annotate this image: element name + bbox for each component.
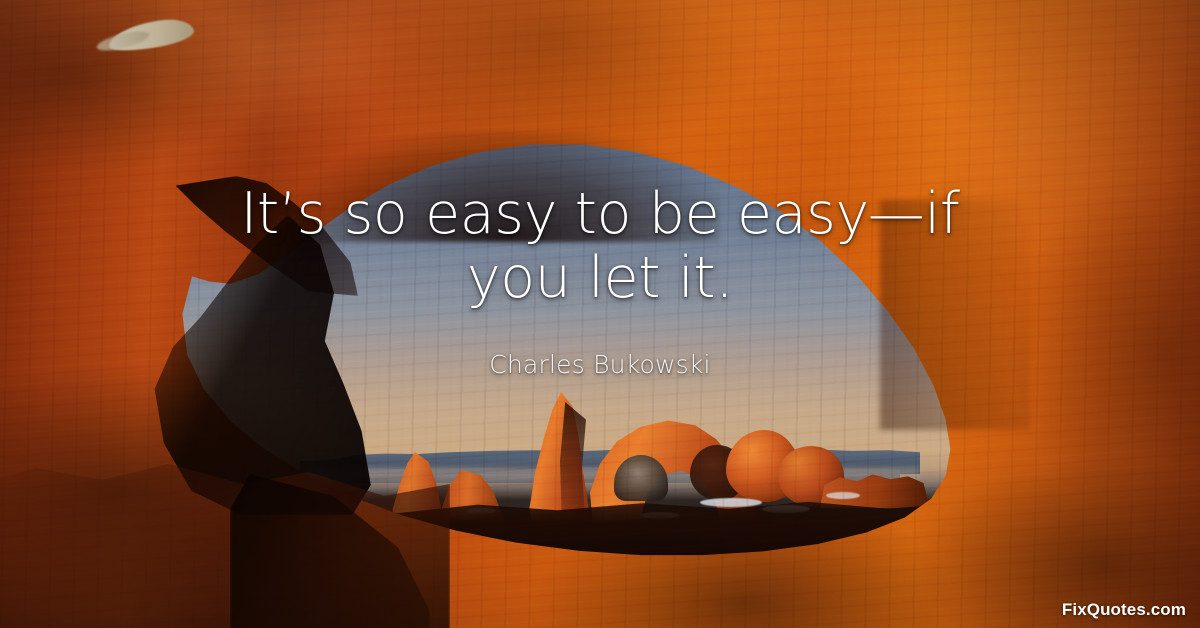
snow-patch <box>700 498 762 507</box>
quote-text: It’s so easy to be easy—if you let it. <box>200 183 1000 311</box>
site-watermark[interactable]: FixQuotes.com <box>1062 600 1186 620</box>
snow-patch <box>826 492 860 499</box>
quote-author: Charles Bukowski <box>250 350 950 379</box>
turret-pinnacle-shadow <box>560 402 586 512</box>
quote-image-canvas: It’s so easy to be easy—if you let it. C… <box>0 0 1200 628</box>
